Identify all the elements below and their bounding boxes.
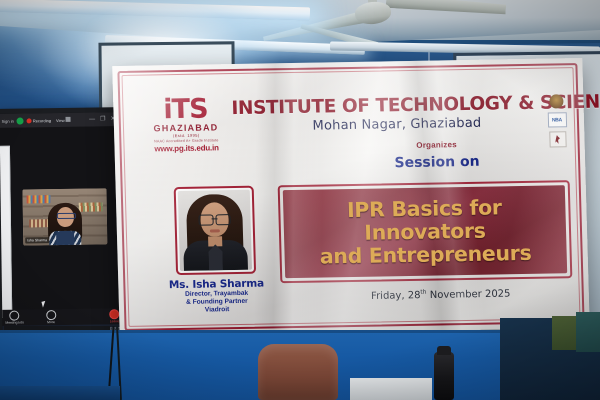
minimize-button[interactable]: — — [89, 117, 95, 123]
meeting-info-button[interactable]: Meeting Info — [5, 310, 24, 325]
water-bottle — [434, 352, 454, 400]
meeting-stage: Isha Sharma — [0, 126, 122, 312]
date-rest: November 2025 — [426, 289, 510, 301]
more-button[interactable]: More — [46, 310, 56, 325]
participant-figure — [48, 201, 83, 245]
restore-button[interactable]: ❐ — [100, 116, 105, 122]
session-title-line-1: IPR Basics for Innovators — [283, 195, 566, 246]
session-title-fill: IPR Basics for Innovators and Entreprene… — [283, 185, 567, 278]
leave-button[interactable]: Leave — [109, 309, 119, 324]
classroom-photo-scene: Sign in Recording View — ❐ ✕ — [0, 0, 600, 400]
emblem-glyph-icon — [555, 135, 560, 144]
wall-mounted-display: Sign in Recording View — ❐ ✕ — [0, 107, 128, 341]
participant-video-tile[interactable]: Isha Sharma — [23, 188, 108, 245]
event-date: Friday, 28th November 2025 — [321, 286, 561, 303]
sign-in-button[interactable]: Sign in — [2, 118, 14, 123]
session-on-label: Session on — [327, 153, 547, 173]
view-label: View — [56, 118, 65, 123]
institute-emblem-logo — [549, 94, 563, 108]
institute-logo: iTS GHAZIABAD (Estd. 1995) NAAC Accredit… — [135, 96, 237, 155]
organizes-label: Organizes — [326, 139, 546, 152]
third-accreditation-logo — [549, 131, 566, 147]
speaker-block: Ms. Isha Sharma Director, Trayambak & Fo… — [162, 185, 270, 315]
view-button[interactable]: View — [56, 117, 71, 123]
session-title-line-2: and Entrepreneurs — [284, 241, 567, 269]
speaker-role-line-3: Viadroit — [165, 305, 269, 315]
more-label: More — [47, 320, 55, 325]
speaker-photo — [178, 190, 252, 271]
meeting-info-label: Meeting Info — [5, 320, 24, 325]
vest — [56, 231, 74, 246]
speaker-photo-frame — [174, 186, 256, 275]
glasses-icon — [57, 213, 76, 219]
its-logo-mark: iTS — [135, 96, 236, 124]
session-title: IPR Basics for Innovators and Entreprene… — [283, 195, 567, 269]
grid-view-icon — [66, 117, 71, 122]
speaker-name: Ms. Isha Sharma — [164, 277, 268, 291]
record-dot-icon — [27, 118, 32, 123]
bookshelf-books — [29, 219, 49, 227]
meeting-screen[interactable]: Sign in Recording View — ❐ ✕ — [0, 112, 123, 336]
teal-panel — [576, 312, 600, 352]
mouse-cursor-icon — [41, 301, 46, 308]
event-banner: iTS GHAZIABAD (Estd. 1995) NAAC Accredit… — [112, 58, 589, 336]
side-panel[interactable] — [0, 146, 12, 318]
participant-name-label: Isha Sharma — [25, 237, 49, 243]
logo-website: www.pg.its.edu.in — [136, 143, 236, 155]
accreditation-logos: NBA — [543, 94, 570, 147]
nba-label: NBA — [552, 117, 562, 123]
meeting-control-bar: Meeting Info More Leave — [2, 308, 122, 326]
more-icon — [46, 310, 56, 320]
bookshelf-books — [79, 202, 103, 211]
recording-indicator[interactable]: Recording — [27, 118, 51, 123]
floor-strip — [0, 386, 120, 400]
shield-icon — [17, 117, 24, 124]
date-prefix: Friday, 28 — [371, 290, 421, 302]
bottle-cap — [437, 346, 451, 355]
leave-icon — [109, 309, 119, 319]
recording-label: Recording — [33, 118, 51, 123]
glasses-bridge — [212, 218, 218, 220]
session-title-box: IPR Basics for Innovators and Entreprene… — [278, 180, 573, 283]
speaker-glasses-icon — [198, 214, 230, 224]
chair — [258, 344, 338, 400]
speaker-mouth — [210, 229, 220, 232]
leave-label: Leave — [110, 319, 119, 324]
white-table-object — [350, 378, 432, 400]
nba-accreditation-logo: NBA — [547, 112, 566, 127]
info-icon — [10, 310, 20, 320]
